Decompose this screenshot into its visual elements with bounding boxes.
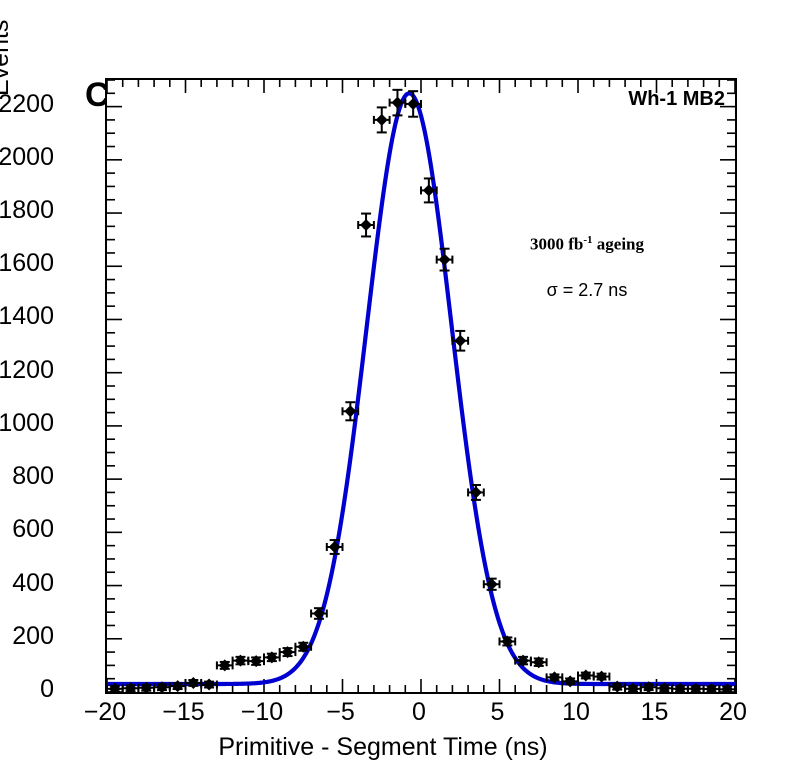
data-point-marker: [376, 114, 388, 126]
plot-svg: [107, 80, 735, 692]
data-point-marker: [454, 335, 466, 347]
fit-curve: [107, 93, 735, 684]
y-tick-label: 1000: [0, 411, 54, 436]
x-tick-label: 15: [641, 700, 669, 725]
y-tick-label: 800: [12, 464, 54, 489]
x-tick-label: 0: [412, 700, 426, 725]
y-axis-title: Events: [0, 20, 15, 96]
x-tick-label: −10: [241, 700, 283, 725]
x-tick-label: −5: [326, 700, 355, 725]
data-point-marker: [439, 254, 451, 266]
x-axis-title: Primitive - Segment Time (ns): [218, 733, 547, 762]
y-tick-label: 1600: [0, 251, 54, 276]
y-tick-label: 1800: [0, 198, 54, 223]
data-point-marker: [203, 679, 215, 691]
data-point-marker: [187, 677, 199, 689]
y-tick-label: 2200: [0, 92, 54, 117]
y-tick-label: 600: [12, 517, 54, 542]
x-tick-label: 5: [491, 700, 505, 725]
y-tick-label: 400: [12, 571, 54, 596]
y-tick-label: 1200: [0, 358, 54, 383]
y-tick-label: 0: [40, 677, 54, 702]
data-point-marker: [580, 670, 592, 682]
chamber-label: Wh-1 MB2: [628, 88, 725, 111]
x-tick-label: −20: [84, 700, 126, 725]
x-tick-label: −15: [162, 700, 204, 725]
plot-canvas: CMS Phase-2 Simulation Preliminary PU 20…: [0, 0, 796, 772]
x-tick-label: 10: [562, 700, 590, 725]
cms-header: CMS Phase-2 Simulation Preliminary PU 20…: [0, 40, 796, 74]
data-point-marker: [596, 671, 608, 683]
y-tick-label: 1400: [0, 304, 54, 329]
plot-frame: Wh-1 MB2 3000 fb-1 ageing σ = 2.7 ns: [105, 78, 737, 694]
y-tick-label: 200: [12, 624, 54, 649]
y-tick-label: 2000: [0, 145, 54, 170]
x-tick-label: 20: [719, 700, 747, 725]
data-point-marker: [360, 219, 372, 231]
